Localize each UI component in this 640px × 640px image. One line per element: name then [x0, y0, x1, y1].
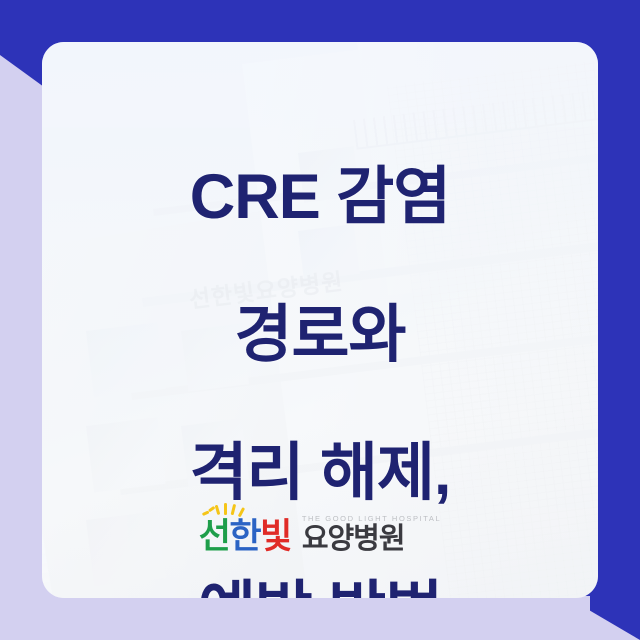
headline-line-1: CRE 감염: [42, 163, 598, 232]
logo-mark: 선 한 빛: [199, 519, 291, 554]
logo-syllable-han: 한: [229, 519, 260, 554]
frame-strip-left: [0, 145, 44, 640]
sun-rays-icon: [201, 503, 253, 523]
logo-wordmark: 요양병원: [302, 525, 441, 554]
logo-syllable-seon: 선: [199, 519, 230, 554]
content-card: 선한빛요양병원 CRE 감염 경로와 격리 해제, 예방 방법: [42, 42, 598, 598]
headline-line-4: 예방 방법: [42, 577, 598, 598]
logo-wordmark-group: THE GOOD LIGHT HOSPITAL 요양병원: [302, 514, 441, 554]
headline-line-3: 격리 해제,: [42, 439, 598, 508]
poster-card: 선한빛요양병원 CRE 감염 경로와 격리 해제, 예방 방법: [0, 0, 640, 640]
frame-strip-bottom-right: [290, 596, 590, 640]
headline-line-2: 경로와: [42, 301, 598, 370]
hospital-logo: 선 한 빛 THE GOOD LIGHT HOSPITAL 요양병원: [42, 514, 598, 554]
logo-english-tagline: THE GOOD LIGHT HOSPITAL: [302, 514, 441, 523]
logo-syllable-bit: 빛: [260, 519, 291, 554]
